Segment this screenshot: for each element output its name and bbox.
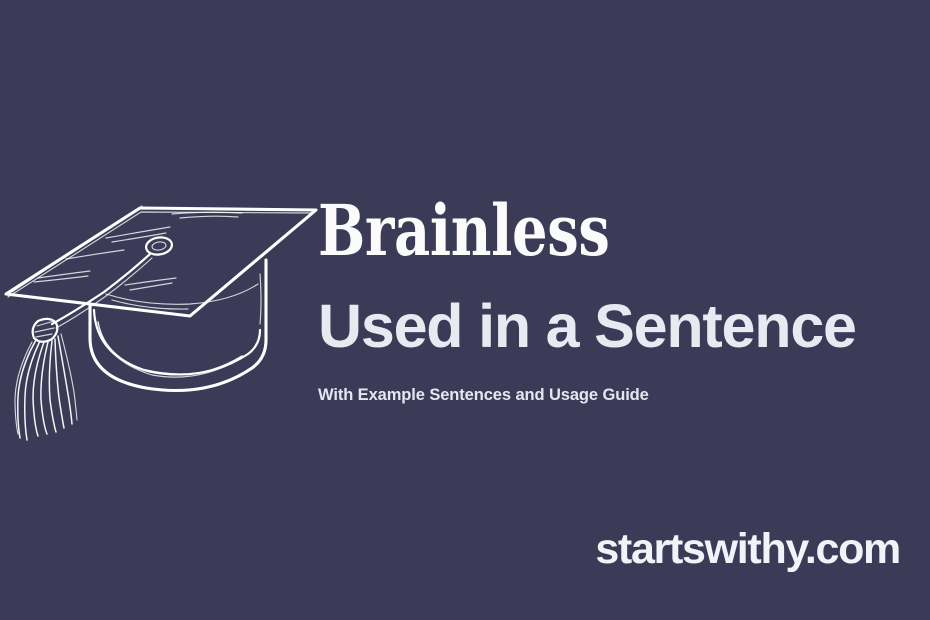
poster-canvas: Brainless Used in a Sentence With Exampl… — [0, 0, 930, 620]
tassel-strands — [15, 334, 77, 440]
mortarboard-shape — [6, 206, 316, 316]
cap-crown — [90, 260, 266, 391]
page-subtitle: With Example Sentences and Usage Guide — [318, 357, 918, 404]
page-title: Used in a Sentence — [318, 266, 918, 357]
tassel-knot — [33, 319, 58, 342]
cap-button-icon — [145, 236, 173, 257]
hero-text-block: Brainless Used in a Sentence With Exampl… — [318, 196, 918, 404]
graduation-cap-icon — [0, 182, 324, 450]
mortarboard-hatching — [34, 212, 242, 290]
headword-title: Brainless — [318, 196, 798, 266]
tassel-cord — [52, 254, 152, 328]
brand-wordmark: startswithy.com — [595, 528, 900, 571]
